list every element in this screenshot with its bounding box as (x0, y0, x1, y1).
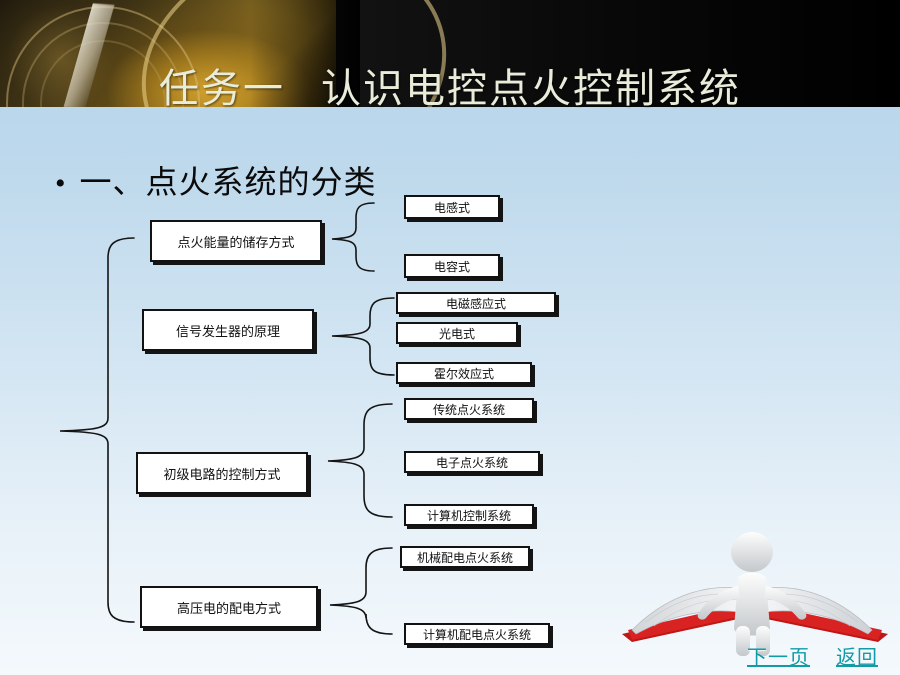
section-heading: • 一、点火系统的分类 (55, 162, 377, 203)
back-link[interactable]: 返回 (836, 645, 878, 671)
tree-leaf-4-2[interactable]: 计算机配电点火系统 (404, 623, 550, 645)
section-heading-label: 一、点火系统的分类 (80, 162, 377, 202)
tree-node-branch-3[interactable]: 初级电路的控制方式 (136, 452, 308, 494)
tree-leaf-1-1[interactable]: 电感式 (404, 195, 500, 219)
tree-leaf-3-2[interactable]: 电子点火系统 (404, 451, 540, 473)
tree-leaf-3-3[interactable]: 计算机控制系统 (404, 504, 534, 526)
next-page-link[interactable]: 下一页 (747, 645, 810, 671)
tree-leaf-2-2[interactable]: 光电式 (396, 322, 518, 344)
slide-canvas: 任务一 认识电控点火控制系统 • 一、点火系统的分类 (0, 0, 900, 675)
tree-leaf-4-1[interactable]: 机械配电点火系统 (400, 546, 530, 568)
page-title: 任务一 认识电控点火控制系统 (0, 66, 900, 112)
tree-node-branch-1[interactable]: 点火能量的储存方式 (150, 220, 322, 262)
tree-node-branch-4[interactable]: 高压电的配电方式 (140, 586, 318, 628)
tree-leaf-3-1[interactable]: 传统点火系统 (404, 398, 534, 420)
tree-leaf-2-1[interactable]: 电磁感应式 (396, 292, 556, 314)
navigation-links: 下一页 返回 (747, 645, 878, 671)
tree-leaf-2-3[interactable]: 霍尔效应式 (396, 362, 532, 384)
tree-node-branch-2[interactable]: 信号发生器的原理 (142, 309, 314, 351)
bullet-marker: • (55, 165, 66, 203)
tree-leaf-1-2[interactable]: 电容式 (404, 254, 500, 278)
